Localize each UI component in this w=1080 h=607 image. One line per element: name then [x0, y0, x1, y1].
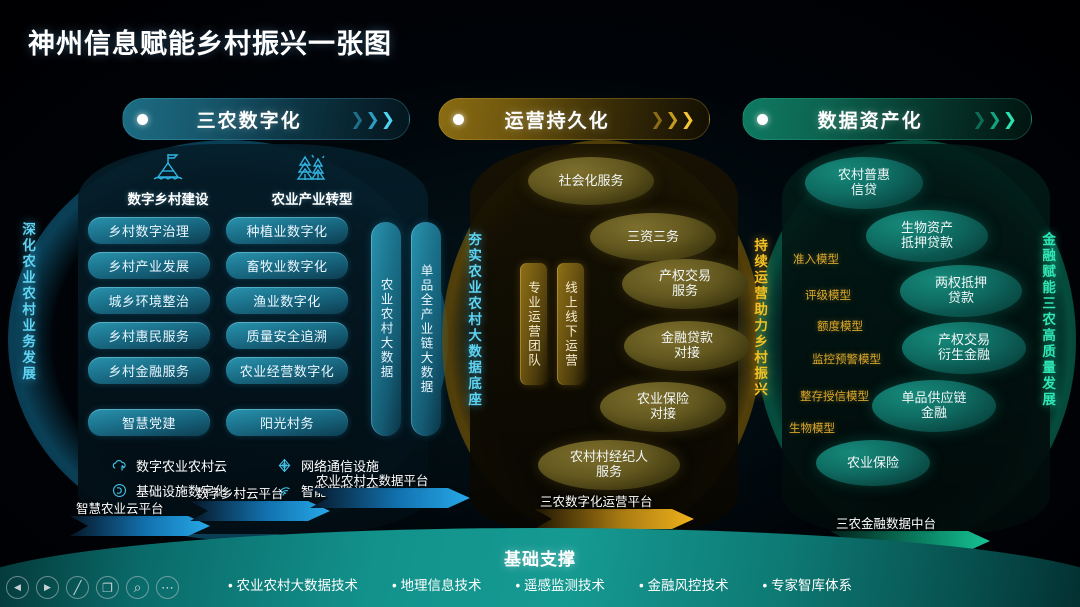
platform-arrow-smart-agri-cloud[interactable]: 智慧农业云平台: [70, 515, 210, 537]
ellipse-label: 产权交易 衍生金融: [938, 333, 990, 363]
category-industry-transform: 农业产业转型: [252, 146, 372, 208]
pill-label: 三农数字化: [148, 106, 350, 133]
foundation-item: 遥感监测技术: [516, 574, 605, 594]
ellipse-item[interactable]: 金融贷款 对接: [624, 321, 750, 371]
ellipse-item[interactable]: 生物资产 抵押贷款: [866, 210, 988, 262]
pill-dot-icon: [453, 114, 464, 125]
page-title: 神州信息赋能乡村振兴一张图: [28, 22, 392, 61]
ellipse-label: 产权交易 服务: [659, 269, 711, 299]
chip-item[interactable]: 种植业数字化: [226, 217, 348, 244]
ellipse-item[interactable]: 农业保险 对接: [600, 382, 726, 432]
pill-dot-icon: [137, 114, 148, 125]
ellipse-label: 农村村经纪人 服务: [570, 450, 648, 480]
header-pill-data-asset[interactable]: 数据资产化 ❯❯❯: [742, 98, 1032, 140]
chip-item[interactable]: 农业经营数字化: [226, 357, 348, 384]
ellipse-item[interactable]: 农业保险: [816, 440, 930, 486]
pill-label: 数据资产化: [768, 106, 972, 133]
ellipse-item[interactable]: 三资三务: [590, 213, 716, 261]
vertical-bar-online-offline[interactable]: 线上线下运营: [557, 263, 584, 385]
vertical-bar-supply-bigdata[interactable]: 单品全产业链大数据: [411, 222, 441, 436]
playback-controls: ◀ ▶ ╱ ❐ ⌕ ⋯: [6, 576, 179, 599]
foundation-item: 专家智库体系: [762, 574, 851, 594]
model-label: 评级模型: [805, 287, 851, 303]
chip-item[interactable]: 城乡环境整治: [88, 287, 210, 314]
vertical-bar-agri-bigdata[interactable]: 农业农村大数据: [371, 222, 401, 436]
chip-item[interactable]: 乡村金融服务: [88, 357, 210, 384]
ellipse-label: 生物资产 抵押贷款: [901, 221, 953, 251]
ellipse-item[interactable]: 社会化服务: [528, 157, 654, 205]
arrow-shape-icon: [190, 500, 330, 522]
header-pill-operations[interactable]: 运营持久化 ❯❯❯: [438, 98, 710, 140]
model-label: 额度模型: [817, 318, 863, 334]
model-label: 生物模型: [789, 420, 835, 436]
chevron-right-icon: ❯❯❯: [972, 111, 1017, 128]
arrow-shape-icon: [70, 515, 210, 537]
platform-arrow-label: 三农数字化运营平台: [540, 491, 653, 510]
ellipse-item[interactable]: 单品供应链 金融: [872, 380, 996, 432]
chip-item[interactable]: 乡村产业发展: [88, 252, 210, 279]
side-label-big-data-base: 夯实农业农村大数据底座: [466, 232, 480, 408]
vertical-bar-ops-team[interactable]: 专业运营团队: [520, 263, 547, 385]
chip-item-smart-party[interactable]: 智慧党建: [88, 409, 210, 436]
foundation-item: 地理信息技术: [392, 574, 481, 594]
foundation-item: 金融风控技术: [639, 574, 728, 594]
ellipse-label: 单品供应链 金融: [901, 391, 966, 421]
ellipse-label: 两权抵押 贷款: [935, 276, 987, 306]
chip-item[interactable]: 渔业数字化: [226, 287, 348, 314]
village-construction-icon: [108, 146, 228, 184]
pill-label: 运营持久化: [464, 106, 650, 133]
header-pill-digitalization[interactable]: 三农数字化 ❯❯❯: [122, 98, 410, 140]
model-label: 整存授信模型: [800, 388, 869, 404]
model-label: 监控预警模型: [812, 351, 881, 367]
ellipse-item[interactable]: 两权抵押 贷款: [900, 265, 1022, 317]
platform-arrow-digital-village-cloud[interactable]: 数字乡村云平台: [190, 500, 330, 522]
side-label-digitalization: 深化农业农村业务发展: [20, 222, 34, 382]
foundation-item: 农业农村大数据技术: [228, 574, 358, 594]
previous-icon[interactable]: ◀: [6, 576, 29, 599]
pen-icon[interactable]: ╱: [66, 576, 89, 599]
search-icon[interactable]: ⌕: [126, 576, 149, 599]
more-icon[interactable]: ⋯: [156, 576, 179, 599]
feature-label: 数字农业农村云: [136, 456, 227, 475]
feature-digital-agri-cloud[interactable]: 数字农业农村云: [110, 456, 227, 475]
ellipse-label: 金融贷款 对接: [661, 331, 713, 361]
chip-item[interactable]: 乡村惠民服务: [88, 322, 210, 349]
category-label: 数字乡村建设: [108, 188, 228, 208]
platform-arrow-label: 数字乡村云平台: [196, 483, 284, 502]
ellipse-label: 农业保险 对接: [637, 392, 689, 422]
category-digital-village: 数字乡村建设: [108, 146, 228, 208]
chip-item[interactable]: 畜牧业数字化: [226, 252, 348, 279]
cloud-icon: [110, 456, 129, 475]
ellipse-item[interactable]: 农村普惠 信贷: [805, 157, 923, 209]
infographic-canvas: 神州信息赋能乡村振兴一张图 三农数字化 ❯❯❯ 运营持久化 ❯❯❯ 数据资产化 …: [0, 0, 1080, 607]
platform-arrow-label: 三农金融数据中台: [836, 513, 936, 532]
ellipse-item[interactable]: 产权交易 服务: [622, 259, 748, 309]
next-icon[interactable]: ▶: [36, 576, 59, 599]
chip-item[interactable]: 质量安全追溯: [226, 322, 348, 349]
chevron-right-icon: ❯❯❯: [350, 111, 395, 128]
layout-icon[interactable]: ❐: [96, 576, 119, 599]
ellipse-item[interactable]: 产权交易 衍生金融: [902, 322, 1026, 374]
chevron-right-icon: ❯❯❯: [650, 111, 695, 128]
ellipse-label: 农村普惠 信贷: [838, 168, 890, 198]
chip-item-sunshine-affairs[interactable]: 阳光村务: [226, 409, 348, 436]
category-label: 农业产业转型: [252, 188, 372, 208]
chip-item[interactable]: 乡村数字治理: [88, 217, 210, 244]
arrow-shape-icon: [534, 508, 694, 530]
side-label-data-asset: 金融赋能三农高质量发展: [1040, 232, 1054, 408]
ellipse-item[interactable]: 农村村经纪人 服务: [538, 440, 680, 490]
arrow-shape-icon: [310, 487, 470, 509]
platform-arrow-label: 农业农村大数据平台: [316, 470, 429, 489]
network-icon: [275, 456, 294, 475]
foundation-title: 基础支撑: [0, 545, 1080, 570]
platform-arrow-label: 智慧农业云平台: [76, 498, 164, 517]
side-label-operations: 持续运营助力乡村振兴: [752, 238, 766, 398]
platform-arrow-agri-bigdata[interactable]: 农业农村大数据平台: [310, 487, 470, 509]
platform-arrow-ops-platform[interactable]: 三农数字化运营平台: [534, 508, 694, 530]
model-label: 准入模型: [793, 251, 839, 267]
agriculture-industry-icon: [252, 146, 372, 184]
pill-dot-icon: [757, 114, 768, 125]
